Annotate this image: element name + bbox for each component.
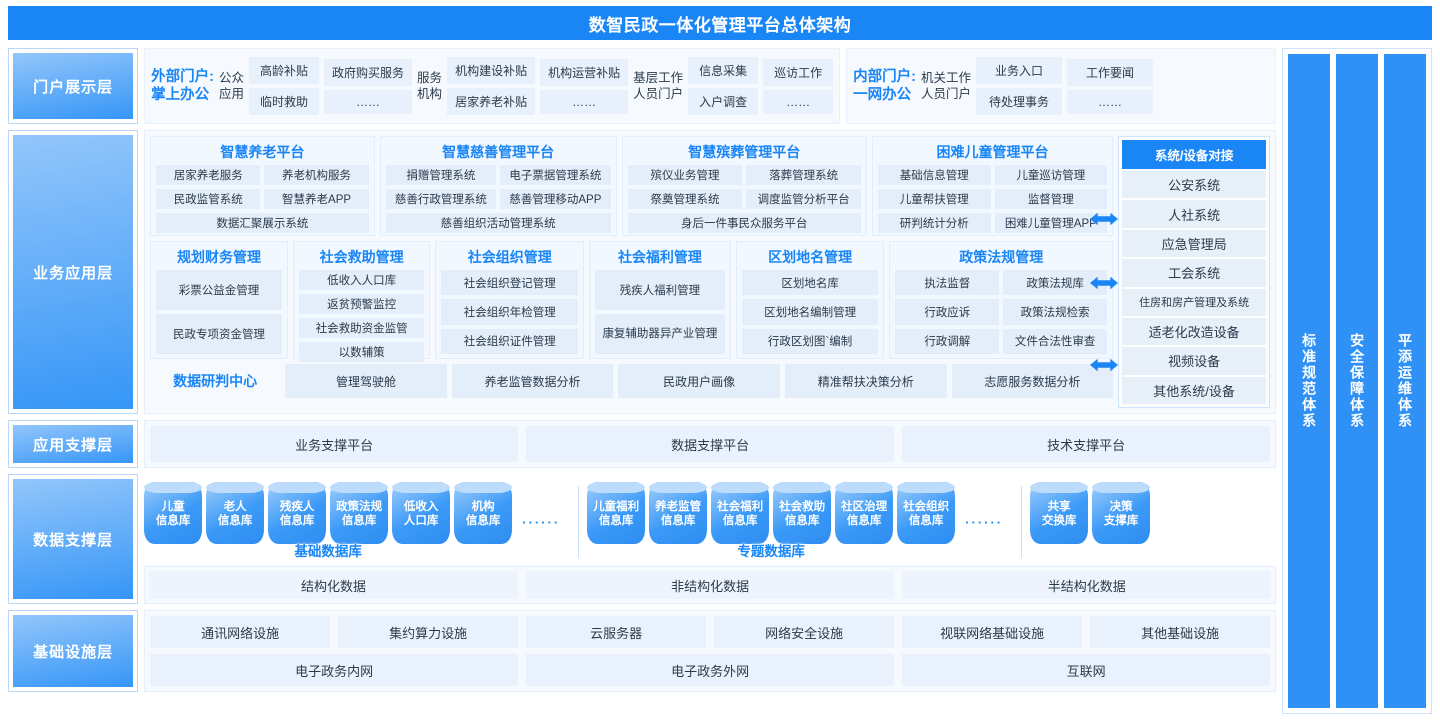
business-card-4: 困难儿童管理平台基础信息管理儿童巡访管理儿童帮扶管理监督管理研判统计分析困难儿童… <box>872 136 1113 236</box>
internal-chips-1: 业务入口 待处理事务 <box>976 57 1062 115</box>
system-docking-header: 系统/设备对接 <box>1122 140 1266 169</box>
business-card-1: 规划财务管理彩票公益金管理民政专项资金管理 <box>150 241 288 359</box>
cylinder-label: 老人信息库 <box>216 497 255 529</box>
cylinder-top <box>330 482 388 493</box>
data-kind-structured[interactable]: 结构化数据 <box>149 571 518 599</box>
chip-elderly-subsidy[interactable]: 高龄补贴 <box>249 57 319 84</box>
vertical-bar-operations: 平添运维体系 <box>1384 54 1426 708</box>
business-item[interactable]: 监督管理 <box>995 189 1108 209</box>
business-card-body: 区划地名库区划地名编制管理行政区划图`编制 <box>742 270 879 354</box>
vertical-systems-panel: 标准规范体系 安全保障体系 平添运维体系 <box>1282 48 1432 714</box>
cylinder-label: 社区治理信息库 <box>839 497 889 529</box>
cylinder-top <box>835 482 893 493</box>
business-card-title: 社会组织管理 <box>441 245 578 270</box>
database-cylinder[interactable]: 低收入人口库 <box>392 482 450 544</box>
docking-item-human-resources[interactable]: 人社系统 <box>1122 200 1266 227</box>
chip-org-operation-subsidy[interactable]: 机构运营补贴 <box>540 59 628 86</box>
cylinder-top <box>144 482 202 493</box>
cylinder-label: 决策支撑库 <box>1102 497 1141 529</box>
analysis-item-volunteer-service[interactable]: 志愿服务数据分析 <box>952 364 1114 398</box>
topic-database-cylinders: 儿童福利信息库养老监管信息库社会福利信息库社会救助信息库社区治理信息库社会组织信… <box>587 482 955 544</box>
cylinder-label: 养老监管信息库 <box>653 497 703 529</box>
docking-item-public-security[interactable]: 公安系统 <box>1122 171 1266 198</box>
business-card-line: 行政区划图`编制 <box>742 329 879 354</box>
business-item[interactable]: 文件合法性审查 <box>1003 329 1107 354</box>
layer-label-column: 门户展示层 业务应用层 应用支撑层 数据支撑层 基础设施层 <box>8 48 138 714</box>
business-card-line: 执法监督政策法规库 <box>895 270 1107 295</box>
database-row: 儿童信息库老人信息库残疾人信息库政策法规信息库低收入人口库机构信息库 基础数据库… <box>144 474 1276 562</box>
database-cylinder[interactable]: 老人信息库 <box>206 482 264 544</box>
cylinder-label: 政策法规信息库 <box>334 497 384 529</box>
business-card-line: 数据汇聚展示系统 <box>156 213 368 233</box>
docking-item-trade-union[interactable]: 工会系统 <box>1122 259 1266 286</box>
analysis-item-cockpit[interactable]: 管理驾驶舱 <box>285 364 447 398</box>
business-item[interactable]: 社会救助资金监管 <box>299 318 425 338</box>
chip-business-entry[interactable]: 业务入口 <box>976 57 1062 84</box>
infrastructure-item[interactable]: 其他基础设施 <box>1090 616 1270 648</box>
business-card-body: 殡仪业务管理落葬管理系统祭奠管理系统调度监管分析平台身后一件事民众服务平台 <box>628 165 861 233</box>
business-item[interactable]: 身后一件事民众服务平台 <box>628 213 861 233</box>
business-card-2: 社会救助管理低收入人口库返贫预警监控社会救助资金监管以数辅策 <box>293 241 431 359</box>
database-cylinder[interactable]: 社会组织信息库 <box>897 482 955 544</box>
docking-item-emergency-bureau[interactable]: 应急管理局 <box>1122 230 1266 257</box>
chip-info-collection[interactable]: 信息采集 <box>688 57 758 84</box>
business-item[interactable]: 以数辅策 <box>299 342 425 362</box>
business-item[interactable]: 捐赠管理系统 <box>386 165 497 185</box>
infrastructure-row-1: 通讯网络设施集约算力设施云服务器网络安全设施视联网络基础设施其他基础设施 <box>150 616 1270 648</box>
cylinder-top <box>392 482 450 493</box>
business-item[interactable]: 慈善行政管理系统 <box>386 189 497 209</box>
database-cylinder[interactable]: 社会福利信息库 <box>711 482 769 544</box>
double-arrow-icon-1 <box>1090 208 1118 230</box>
chip-patrol-work[interactable]: 巡访工作 <box>763 59 833 86</box>
business-card-title: 政策法规管理 <box>895 245 1107 270</box>
business-card-line: 儿童帮扶管理监督管理 <box>878 189 1107 209</box>
business-cards-area: 智慧养老平台居家养老服务养老机构服务民政监管系统智慧养老APP数据汇聚展示系统智… <box>150 136 1113 408</box>
analysis-item-precision-aid[interactable]: 精准帮扶决策分析 <box>785 364 947 398</box>
business-item[interactable]: 区划地名编制管理 <box>742 299 879 324</box>
business-item[interactable]: 民政专项资金管理 <box>156 314 282 354</box>
business-item[interactable]: 智慧养老APP <box>264 189 368 209</box>
agency-staff-portal-label: 机关工作人员门户 <box>921 70 971 103</box>
infrastructure-item[interactable]: 互联网 <box>902 654 1270 686</box>
business-application-layer: 智慧养老平台居家养老服务养老机构服务民政监管系统智慧养老APP数据汇聚展示系统智… <box>144 130 1276 414</box>
cylinder-top <box>773 482 831 493</box>
chip-home-care-subsidy[interactable]: 居家养老补贴 <box>447 88 535 115</box>
database-cylinder[interactable]: 政策法规信息库 <box>330 482 388 544</box>
cylinder-top <box>649 482 707 493</box>
chip-more-4[interactable]: …… <box>1067 90 1153 114</box>
business-card-title: 规划财务管理 <box>156 245 282 270</box>
cylinder-label: 机构信息库 <box>464 497 503 529</box>
business-card-body: 居家养老服务养老机构服务民政监管系统智慧养老APP数据汇聚展示系统 <box>156 165 368 233</box>
infrastructure-item[interactable]: 云服务器 <box>526 616 706 648</box>
business-item[interactable]: 养老机构服务 <box>264 165 368 185</box>
business-item[interactable]: 行政应诉 <box>895 299 999 324</box>
business-card-line: 社会组织登记管理 <box>441 270 578 295</box>
business-card-3: 智慧殡葬管理平台殡仪业务管理落葬管理系统祭奠管理系统调度监管分析平台身后一件事民… <box>622 136 867 236</box>
business-item[interactable]: 居家养老服务 <box>156 165 260 185</box>
business-card-line: 以数辅策 <box>299 342 425 362</box>
business-card-line: 殡仪业务管理落葬管理系统 <box>628 165 861 185</box>
business-card-body: 低收入人口库返贫预警监控社会救助资金监管以数辅策 <box>299 270 425 362</box>
data-kinds-row: 结构化数据 非结构化数据 半结构化数据 <box>144 566 1276 604</box>
infrastructure-item[interactable]: 网络安全设施 <box>714 616 894 648</box>
architecture-diagram: 数智民政一体化管理平台总体架构 门户展示层 业务应用层 应用支撑层 数据支撑层 … <box>0 0 1440 720</box>
business-card-body: 残疾人福利管理康复辅助器异产业管理 <box>595 270 725 354</box>
database-cylinder[interactable]: 共享交换库 <box>1030 482 1088 544</box>
public-app-chips-1: 高龄补贴 临时救助 <box>249 57 319 115</box>
divider-2 <box>1021 486 1022 558</box>
business-card-title: 智慧养老平台 <box>156 140 368 165</box>
data-kind-unstructured[interactable]: 非结构化数据 <box>526 571 895 599</box>
business-card-body: 社会组织登记管理社会组织年检管理社会组织证件管理 <box>441 270 578 354</box>
business-item[interactable]: 康复辅助器异产业管理 <box>595 314 725 354</box>
data-kind-semi-structured[interactable]: 半结构化数据 <box>902 571 1271 599</box>
business-card-line: 社会救助资金监管 <box>299 318 425 338</box>
cylinder-top <box>1092 482 1150 493</box>
external-portal-group: 外部门户: 掌上办公 公众应用 高龄补贴 临时救助 政府购买服务 …… 服务机构 <box>144 48 840 124</box>
page-title: 数智民政一体化管理平台总体架构 <box>589 11 852 36</box>
cylinder-label: 社会福利信息库 <box>715 497 765 529</box>
business-card-body: 捐赠管理系统电子票据管理系统慈善行政管理系统慈善管理移动APP慈善组织活动管理系… <box>386 165 611 233</box>
database-cylinder[interactable]: 社会救助信息库 <box>773 482 831 544</box>
business-card-line: 社会组织证件管理 <box>441 329 578 354</box>
business-card-3: 社会组织管理社会组织登记管理社会组织年检管理社会组织证件管理 <box>435 241 584 359</box>
base-database-label: 基础数据库 <box>294 540 362 560</box>
business-item[interactable]: 行政区划图`编制 <box>742 329 879 354</box>
business-item[interactable]: 返贫预警监控 <box>299 294 425 314</box>
business-card-line: 民政专项资金管理 <box>156 314 282 354</box>
cylinder-top <box>206 482 264 493</box>
infrastructure-item[interactable]: 集约算力设施 <box>338 616 518 648</box>
layer-label-portal: 门户展示层 <box>8 48 138 124</box>
infrastructure-item[interactable]: 通讯网络设施 <box>150 616 330 648</box>
business-item[interactable]: 民政监管系统 <box>156 189 260 209</box>
system-docking-column: 系统/设备对接 公安系统 人社系统 应急管理局 工会系统 住房和房产管理及系统 … <box>1118 136 1270 408</box>
infrastructure-item[interactable]: 电子政务内网 <box>150 654 518 686</box>
double-arrow-icon-3 <box>1090 354 1118 376</box>
database-cylinder[interactable]: 养老监管信息库 <box>649 482 707 544</box>
business-card-title: 困难儿童管理平台 <box>878 140 1107 165</box>
public-app-chips-2: 政府购买服务 …… <box>324 59 412 114</box>
analysis-item-user-profile[interactable]: 民政用户画像 <box>618 364 780 398</box>
service-org-label: 服务机构 <box>417 70 442 103</box>
base-database-cylinders: 儿童信息库老人信息库残疾人信息库政策法规信息库低收入人口库机构信息库 <box>144 482 512 544</box>
cylinder-top <box>711 482 769 493</box>
infrastructure-row-2: 电子政务内网电子政务外网互联网 <box>150 654 1270 686</box>
business-card-title: 区划地名管理 <box>742 245 879 270</box>
infrastructure-item[interactable]: 电子政务外网 <box>526 654 894 686</box>
database-cylinder[interactable]: 机构信息库 <box>454 482 512 544</box>
docking-item-aging-retrofit-device[interactable]: 适老化改造设备 <box>1122 318 1266 345</box>
page-header: 数智民政一体化管理平台总体架构 <box>8 6 1432 40</box>
business-card-line: 慈善行政管理系统慈善管理移动APP <box>386 189 611 209</box>
business-card-line: 返贫预警监控 <box>299 294 425 314</box>
shared-database-cylinders: 共享交换库决策支撑库 <box>1030 482 1150 544</box>
business-item[interactable]: 慈善管理移动APP <box>500 189 611 209</box>
base-database-group: 儿童信息库老人信息库残疾人信息库政策法规信息库低收入人口库机构信息库 基础数据库 <box>144 482 512 560</box>
topic-database-label: 专题数据库 <box>737 540 805 560</box>
divider-1 <box>578 486 579 558</box>
internal-portal-title: 内部门户: 一网办公 <box>853 68 916 104</box>
business-card-line: 社会组织年检管理 <box>441 299 578 324</box>
vertical-bar-standards: 标准规范体系 <box>1288 54 1330 708</box>
business-item[interactable]: 社会组织证件管理 <box>441 329 578 354</box>
business-item[interactable]: 殡仪业务管理 <box>628 165 743 185</box>
business-card-line: 身后一件事民众服务平台 <box>628 213 861 233</box>
business-row-management: 规划财务管理彩票公益金管理民政专项资金管理社会救助管理低收入人口库返贫预警监控社… <box>150 241 1113 359</box>
data-analysis-title: 数据研判中心 <box>150 371 280 391</box>
chip-more-2[interactable]: …… <box>540 90 628 114</box>
chip-gov-purchase-service[interactable]: 政府购买服务 <box>324 59 412 86</box>
business-card-line: 捐赠管理系统电子票据管理系统 <box>386 165 611 185</box>
business-card-line: 基础信息管理儿童巡访管理 <box>878 165 1107 185</box>
business-card-line: 行政应诉政策法规检索 <box>895 299 1107 324</box>
business-card-title: 智慧慈善管理平台 <box>386 140 611 165</box>
support-item-data-platform[interactable]: 数据支撑平台 <box>526 426 894 462</box>
database-cylinder[interactable]: 社区治理信息库 <box>835 482 893 544</box>
business-row-platforms: 智慧养老平台居家养老服务养老机构服务民政监管系统智慧养老APP数据汇聚展示系统智… <box>150 136 1113 236</box>
business-card-6: 政策法规管理执法监督政策法规库行政应诉政策法规检索行政调解文件合法性审查 <box>889 241 1113 359</box>
external-portal-title: 外部门户: 掌上办公 <box>151 68 214 104</box>
vertical-bar-security: 安全保障体系 <box>1336 54 1378 708</box>
system-docking-panel: 系统/设备对接 公安系统 人社系统 应急管理局 工会系统 住房和房产管理及系统 … <box>1118 136 1270 408</box>
business-card-line: 慈善组织活动管理系统 <box>386 213 611 233</box>
analysis-item-elderly-supervision[interactable]: 养老监管数据分析 <box>452 364 614 398</box>
business-item[interactable]: 执法监督 <box>895 270 999 295</box>
business-item[interactable]: 数据汇聚展示系统 <box>156 213 368 233</box>
business-card-title: 社会救助管理 <box>299 245 425 270</box>
topic-database-group: 儿童福利信息库养老监管信息库社会福利信息库社会救助信息库社区治理信息库社会组织信… <box>587 482 955 560</box>
business-card-line: 区划地名编制管理 <box>742 299 879 324</box>
grassroots-staff-portal-label: 基层工作人员门户 <box>633 70 683 103</box>
business-card-line: 低收入人口库 <box>299 270 425 290</box>
docking-item-video-device[interactable]: 视频设备 <box>1122 347 1266 374</box>
business-card-body: 执法监督政策法规库行政应诉政策法规检索行政调解文件合法性审查 <box>895 270 1107 354</box>
cylinder-label: 残疾人信息库 <box>278 497 317 529</box>
diagram-body: 门户展示层 业务应用层 应用支撑层 数据支撑层 基础设施层 外部门户: <box>8 48 1432 714</box>
business-item[interactable]: 电子票据管理系统 <box>500 165 611 185</box>
business-card-5: 区划地名管理区划地名库区划地名编制管理行政区划图`编制 <box>736 241 885 359</box>
layer-label-business: 业务应用层 <box>8 130 138 414</box>
support-item-tech-platform[interactable]: 技术支撑平台 <box>902 426 1270 462</box>
support-item-business-platform[interactable]: 业务支撑平台 <box>150 426 518 462</box>
grassroots-chips-2: 巡访工作 …… <box>763 59 833 114</box>
business-item[interactable]: 儿童巡访管理 <box>995 165 1108 185</box>
cylinder-label: 共享交换库 <box>1040 497 1079 529</box>
business-card-title: 智慧殡葬管理平台 <box>628 140 861 165</box>
business-item[interactable]: 落葬管理系统 <box>746 165 861 185</box>
business-card-line: 祭奠管理系统调度监管分析平台 <box>628 189 861 209</box>
business-item[interactable]: 祭奠管理系统 <box>628 189 743 209</box>
chip-household-survey[interactable]: 入户调查 <box>688 88 758 115</box>
chip-org-construction-subsidy[interactable]: 机构建设补贴 <box>447 57 535 84</box>
chip-more-3[interactable]: …… <box>763 90 833 114</box>
layer-label-infrastructure: 基础设施层 <box>8 610 138 692</box>
database-cylinder[interactable]: 儿童信息库 <box>144 482 202 544</box>
database-cylinder[interactable]: 残疾人信息库 <box>268 482 326 544</box>
business-item[interactable]: 调度监管分析平台 <box>746 189 861 209</box>
service-org-chips-2: 机构运营补贴 …… <box>540 59 628 114</box>
business-card-body: 基础信息管理儿童巡访管理儿童帮扶管理监督管理研判统计分析困难儿童管理APP <box>878 165 1107 233</box>
cylinder-label: 社会组织信息库 <box>901 497 951 529</box>
business-card-4: 社会福利管理残疾人福利管理康复辅助器异产业管理 <box>589 241 731 359</box>
cylinder-top <box>587 482 645 493</box>
business-card-line: 残疾人福利管理 <box>595 270 725 310</box>
business-item[interactable]: 基础信息管理 <box>878 165 991 185</box>
business-item[interactable]: 政策法规检索 <box>1003 299 1107 324</box>
infrastructure-item[interactable]: 视联网络基础设施 <box>902 616 1082 648</box>
application-support-layer: 业务支撑平台 数据支撑平台 技术支撑平台 <box>144 420 1276 468</box>
database-cylinder[interactable]: 儿童福利信息库 <box>587 482 645 544</box>
business-card-title: 社会福利管理 <box>595 245 725 270</box>
business-item[interactable]: 研判统计分析 <box>878 213 991 233</box>
business-card-line: 民政监管系统智慧养老APP <box>156 189 368 209</box>
cylinder-top <box>1030 482 1088 493</box>
business-card-line: 彩票公益金管理 <box>156 270 282 310</box>
chip-temporary-aid[interactable]: 临时救助 <box>249 88 319 115</box>
cylinder-label: 儿童信息库 <box>154 497 193 529</box>
chip-work-news[interactable]: 工作要闻 <box>1067 59 1153 86</box>
internal-portal-group: 内部门户: 一网办公 机关工作人员门户 业务入口 待处理事务 工作要闻 …… <box>846 48 1276 124</box>
cylinder-top <box>897 482 955 493</box>
business-item[interactable]: 行政调解 <box>895 329 999 354</box>
infrastructure-layer: 通讯网络设施集约算力设施云服务器网络安全设施视联网络基础设施其他基础设施 电子政… <box>144 610 1276 692</box>
cylinder-top <box>454 482 512 493</box>
business-item[interactable]: 残疾人福利管理 <box>595 270 725 310</box>
shared-database-group: 共享交换库决策支撑库 <box>1030 482 1150 544</box>
business-card-2: 智慧慈善管理平台捐赠管理系统电子票据管理系统慈善行政管理系统慈善管理移动APP慈… <box>380 136 617 236</box>
business-card-line: 居家养老服务养老机构服务 <box>156 165 368 185</box>
business-card-1: 智慧养老平台居家养老服务养老机构服务民政监管系统智慧养老APP数据汇聚展示系统 <box>150 136 374 236</box>
data-analysis-row: 数据研判中心 管理驾驶舱 养老监管数据分析 民政用户画像 精准帮扶决策分析 志愿… <box>150 364 1113 398</box>
business-item[interactable]: 儿童帮扶管理 <box>878 189 991 209</box>
cylinder-label: 低收入人口库 <box>402 497 441 529</box>
business-card-line: 行政调解文件合法性审查 <box>895 329 1107 354</box>
business-item[interactable]: 区划地名库 <box>742 270 879 295</box>
public-app-label: 公众应用 <box>219 70 244 103</box>
cylinder-label: 社会救助信息库 <box>777 497 827 529</box>
cylinder-label: 儿童福利信息库 <box>591 497 641 529</box>
cylinder-top <box>268 482 326 493</box>
chip-pending-tasks[interactable]: 待处理事务 <box>976 88 1062 115</box>
business-item[interactable]: 社会组织登记管理 <box>441 270 578 295</box>
business-item[interactable]: 低收入人口库 <box>299 270 425 290</box>
business-item[interactable]: 彩票公益金管理 <box>156 270 282 310</box>
ellipsis-1: ······ <box>512 515 570 530</box>
data-support-layer: 儿童信息库老人信息库残疾人信息库政策法规信息库低收入人口库机构信息库 基础数据库… <box>144 474 1276 604</box>
internal-chips-2: 工作要闻 …… <box>1067 59 1153 114</box>
double-arrow-icon-2 <box>1090 272 1118 294</box>
business-item[interactable]: 社会组织年检管理 <box>441 299 578 324</box>
portal-layer: 外部门户: 掌上办公 公众应用 高龄补贴 临时救助 政府购买服务 …… 服务机构 <box>144 48 1276 124</box>
layer-label-data-support: 数据支撑层 <box>8 474 138 604</box>
business-card-line: 区划地名库 <box>742 270 879 295</box>
business-card-line: 研判统计分析困难儿童管理APP <box>878 213 1107 233</box>
business-card-line: 康复辅助器异产业管理 <box>595 314 725 354</box>
layer-content-column: 外部门户: 掌上办公 公众应用 高龄补贴 临时救助 政府购买服务 …… 服务机构 <box>144 48 1276 714</box>
grassroots-chips-1: 信息采集 入户调查 <box>688 57 758 115</box>
database-cylinder[interactable]: 决策支撑库 <box>1092 482 1150 544</box>
business-item[interactable]: 慈善组织活动管理系统 <box>386 213 611 233</box>
ellipsis-2: ······ <box>955 515 1013 530</box>
business-card-body: 彩票公益金管理民政专项资金管理 <box>156 270 282 354</box>
layer-label-app-support: 应用支撑层 <box>8 420 138 468</box>
chip-more-1[interactable]: …… <box>324 90 412 114</box>
service-org-chips-1: 机构建设补贴 居家养老补贴 <box>447 57 535 115</box>
docking-item-housing[interactable]: 住房和房产管理及系统 <box>1122 289 1266 316</box>
vertical-systems-column: 标准规范体系 安全保障体系 平添运维体系 <box>1282 48 1432 714</box>
docking-item-other[interactable]: 其他系统/设备 <box>1122 377 1266 404</box>
